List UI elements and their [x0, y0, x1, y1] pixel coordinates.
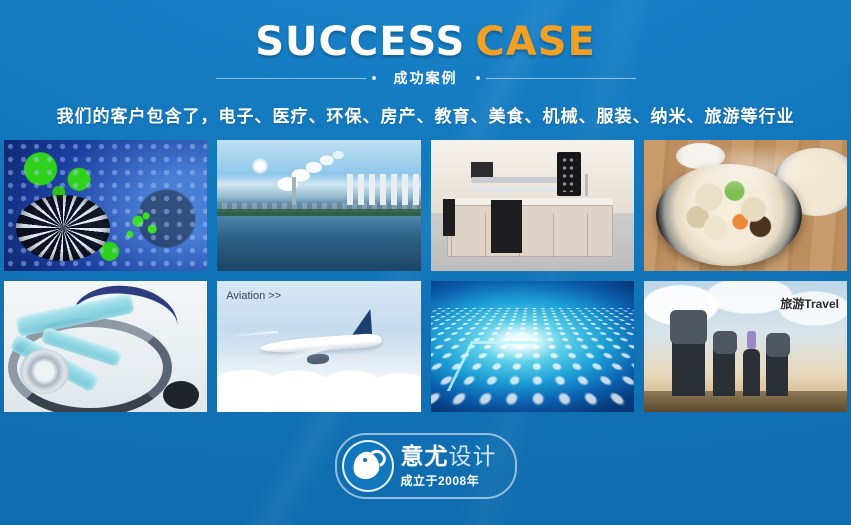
gallery-item-food[interactable] — [644, 140, 847, 271]
gallery-item-aviation[interactable]: Aviation >> — [217, 281, 420, 412]
travel-caption: 旅游Travel — [780, 295, 839, 312]
stethoscope-diaphragm — [20, 349, 69, 394]
gallery-item-lab[interactable] — [431, 140, 634, 271]
faucet — [585, 174, 588, 196]
backpack-1 — [670, 310, 707, 344]
hotpot-food-image — [644, 140, 847, 271]
medical-image — [4, 281, 207, 412]
hiker-3 — [743, 349, 759, 396]
bird-logo-icon — [342, 440, 394, 492]
brand-established: 成立于2008年 — [401, 475, 497, 487]
gallery-item-medical[interactable] — [4, 281, 207, 412]
backpack-3 — [766, 333, 790, 357]
subtitle: 成功案例 — [382, 68, 470, 88]
title-primary: SUCCESS — [255, 19, 465, 65]
bird-eye-shape — [363, 458, 367, 462]
subtitle-divider: 成功案例 — [0, 68, 851, 88]
contrail — [229, 331, 278, 337]
brand-text: 意尤设计 成立于2008年 — [401, 445, 497, 487]
aviation-caption: Aviation >> — [226, 290, 281, 302]
brand-logo[interactable]: 意尤设计 成立于2008年 — [335, 433, 517, 499]
circuit-board-image — [431, 281, 634, 412]
tagline: 我们的客户包含了，电子、医疗、环保、房产、教育、美食、机械、服装、纳米、旅游等行… — [0, 102, 851, 127]
bench-cabinet — [491, 200, 521, 252]
control-panel — [557, 152, 581, 197]
gallery-item-nano[interactable] — [4, 140, 207, 271]
environment-plant-image — [217, 140, 420, 271]
bench-cabinet-left — [443, 199, 455, 236]
chimney — [292, 177, 296, 206]
brand-name-light: 设计 — [449, 443, 497, 469]
water — [217, 216, 420, 271]
lab-furniture-image — [431, 140, 634, 271]
sun-icon — [252, 158, 268, 174]
gallery-item-travel[interactable]: 旅游Travel — [644, 281, 847, 412]
page-title: SUCCESSCASE — [0, 22, 851, 62]
equipment-box — [471, 162, 493, 178]
tree-line — [217, 209, 420, 216]
cloud-layer — [217, 353, 420, 412]
backpack-2 — [713, 331, 737, 355]
gallery-item-environment[interactable] — [217, 140, 420, 271]
brand-name: 意尤设计 — [401, 445, 497, 468]
nano-molecule-image — [4, 140, 207, 271]
case-gallery: Aviation >> 旅游Travel — [4, 140, 847, 412]
factory — [347, 174, 420, 205]
divider-line-right — [486, 78, 636, 79]
earpiece — [163, 381, 200, 410]
divider-line-left — [216, 78, 366, 79]
gallery-item-electronics[interactable] — [431, 281, 634, 412]
lab-bench — [447, 198, 614, 257]
smoke-plume — [270, 148, 351, 193]
divider-dot-left — [372, 76, 376, 80]
sleeping-mat — [747, 331, 755, 349]
title-accent: CASE — [475, 19, 595, 65]
steam — [644, 140, 847, 271]
poster-canvas: SUCCESSCASE 成功案例 我们的客户包含了，电子、医疗、环保、房产、教育… — [0, 0, 851, 525]
brand-name-bold: 意尤 — [401, 443, 449, 469]
divider-dot-right — [476, 76, 480, 80]
